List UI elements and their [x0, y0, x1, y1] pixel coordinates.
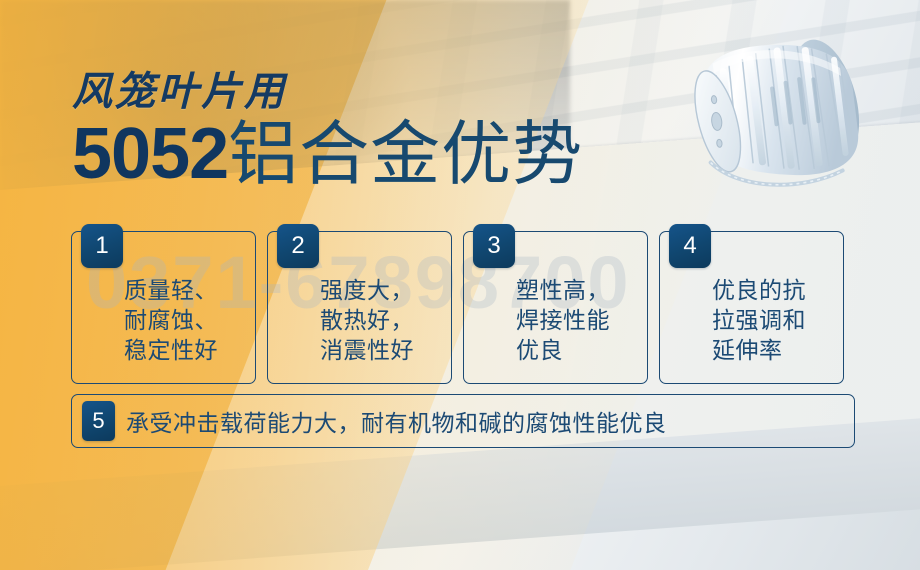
- feature-card[interactable]: 4 优良的抗 拉强调和 延伸率: [659, 231, 844, 384]
- feature-card-wide[interactable]: 5 承受冲击载荷能力大，耐有机物和碱的腐蚀性能优良: [71, 394, 855, 448]
- feature-card-list: 1 质量轻、 耐腐蚀、 稳定性好 2 强度大， 散热好， 消震性好 3 塑性高，…: [71, 231, 855, 384]
- card-text: 优良的抗 拉强调和 延伸率: [712, 276, 835, 366]
- card-text: 强度大， 散热好， 消震性好: [320, 276, 443, 366]
- headline-line-2: 5052铝合金优势: [72, 118, 583, 190]
- headline-line-1: 风笼叶片用: [72, 72, 583, 112]
- card-number-badge: 4: [669, 224, 711, 268]
- headline: 风笼叶片用 5052铝合金优势: [72, 72, 583, 190]
- card-number-badge: 1: [81, 224, 123, 268]
- card-number-badge: 3: [473, 224, 515, 268]
- feature-card[interactable]: 3 塑性高， 焊接性能 优良: [463, 231, 648, 384]
- centrifugal-fan-wheel-image: [649, 8, 907, 231]
- card-number-badge: 5: [82, 401, 115, 441]
- promo-banner: 0371-67898700 风笼叶片用 5052铝合金优势 1 质量轻、 耐腐蚀…: [0, 0, 920, 570]
- feature-card[interactable]: 1 质量轻、 耐腐蚀、 稳定性好: [71, 231, 256, 384]
- feature-card[interactable]: 2 强度大， 散热好， 消震性好: [267, 231, 452, 384]
- card-number-badge: 2: [277, 224, 319, 268]
- card-text: 质量轻、 耐腐蚀、 稳定性好: [124, 276, 247, 366]
- card-text: 塑性高， 焊接性能 优良: [516, 276, 639, 366]
- card-text: 承受冲击载荷能力大，耐有机物和碱的腐蚀性能优良: [126, 395, 844, 447]
- headline-alloy-number: 5052: [72, 114, 228, 194]
- headline-suffix: 铝合金优势: [228, 115, 583, 193]
